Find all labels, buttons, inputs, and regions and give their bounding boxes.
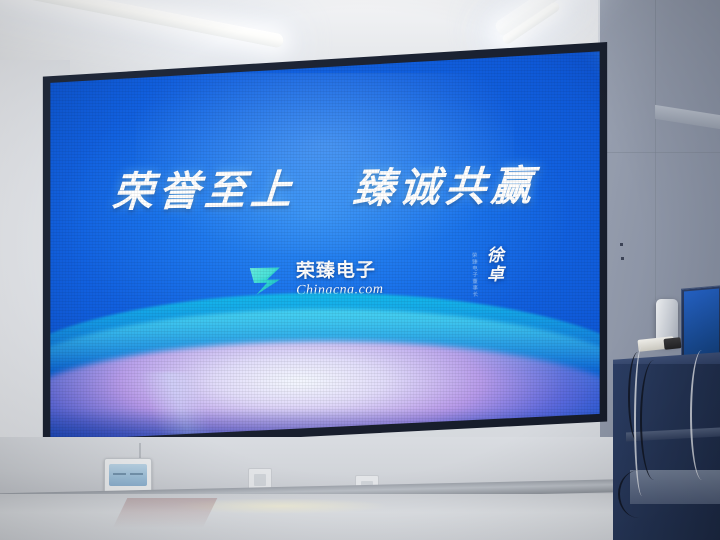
control-panel-conduit: [139, 443, 141, 459]
led-video-wall[interactable]: 荣誉至上 臻诚共赢 荣臻电子: [47, 49, 603, 443]
cable-black-floor: [618, 470, 660, 518]
wall-screw-lower: [621, 257, 624, 260]
laptop[interactable]: [681, 285, 720, 359]
control-panel-line-2: [130, 473, 143, 475]
led-pixel-grid-texture: [47, 49, 603, 443]
floor-marking: [113, 498, 218, 528]
wall-seam-horizontal: [600, 152, 720, 153]
wall-screw-upper: [620, 243, 623, 246]
control-panel-screen[interactable]: [109, 464, 147, 486]
wall-seam-vertical: [655, 0, 656, 300]
power-adapter-plug: [663, 337, 681, 350]
photo-scene: 荣誉至上 臻诚共赢 荣臻电子: [0, 0, 720, 540]
control-panel-line-1: [113, 473, 126, 475]
wall-control-panel[interactable]: [104, 458, 152, 494]
laptop-screen: [684, 288, 719, 355]
cable-white-2: [690, 350, 714, 480]
socket-face-left: [254, 474, 266, 486]
